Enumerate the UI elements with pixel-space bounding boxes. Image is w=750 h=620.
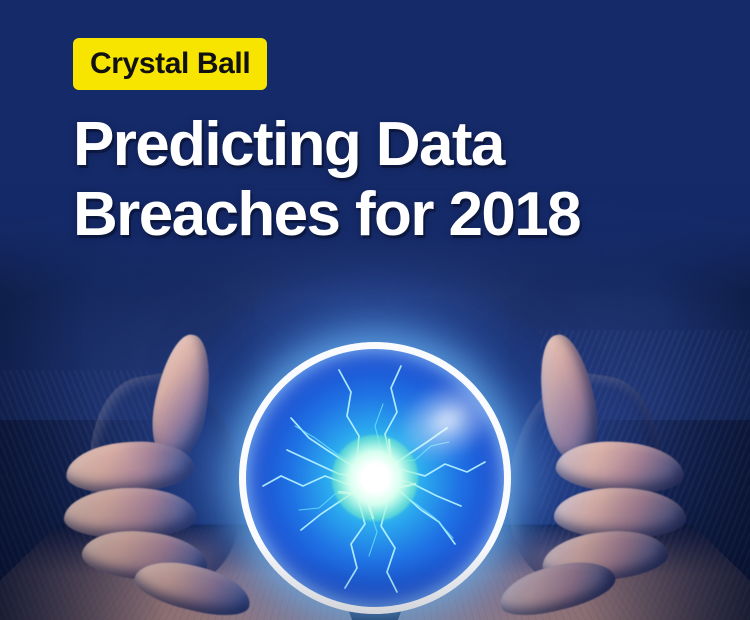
category-badge: Crystal Ball — [73, 38, 267, 90]
page-title-line-1: Predicting Data — [73, 110, 504, 179]
scene-photo — [0, 0, 750, 620]
category-badge-label: Crystal Ball — [90, 49, 250, 79]
crystal-ball-graphic: Crystal Ball Predicting Data Breaches fo… — [0, 0, 750, 620]
page-title-line-2: Breaches for 2018 — [73, 180, 713, 250]
page-title: Predicting Data Breaches for 2018 — [73, 110, 713, 250]
scene-vignette — [0, 0, 750, 620]
